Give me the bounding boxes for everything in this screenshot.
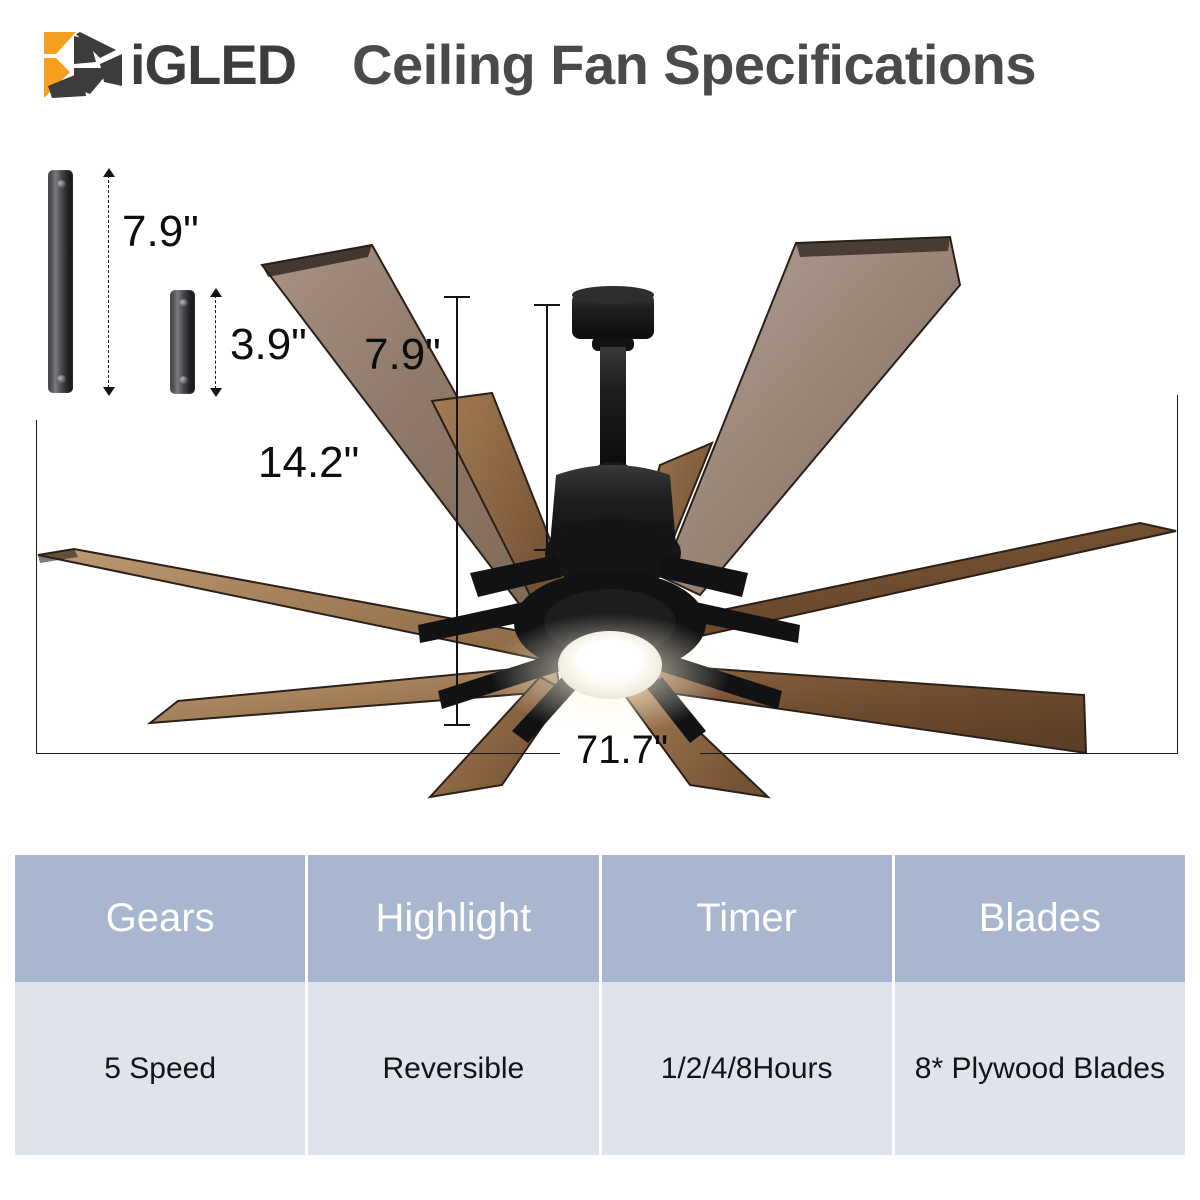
table-row: 5 Speed Reversible 1/2/4/8Hours 8* Plywo… <box>15 982 1185 1155</box>
dim-tick-bottom-body <box>444 724 470 726</box>
table-cell-highlight: Reversible <box>308 982 601 1155</box>
table-header-highlight: Highlight <box>308 855 601 982</box>
aperture-shutter-logo-icon <box>30 28 142 102</box>
dim-line-body-height <box>456 297 458 725</box>
table-header-blades: Blades <box>895 855 1185 982</box>
table-header-row: Gears Highlight Timer Blades <box>15 855 1185 982</box>
ext-line-right <box>1177 395 1178 754</box>
dim-label-drop-height: 7.9" <box>364 330 441 380</box>
ceiling-fan-spec-sheet: iGLED Ceiling Fan Specifications 7.9" 3.… <box>0 0 1200 1200</box>
table-cell-blades: 8* Plywood Blades <box>895 982 1185 1155</box>
dim-tick-bottom-drop <box>534 549 560 551</box>
dim-label-overall-width: 71.7" <box>576 728 668 773</box>
page-title: Ceiling Fan Specifications <box>352 33 1036 97</box>
page-header: iGLED Ceiling Fan Specifications <box>0 0 1200 125</box>
specifications-table: Gears Highlight Timer Blades 5 Speed Rev… <box>15 855 1185 1155</box>
dim-line-width-left <box>36 753 560 754</box>
table-cell-timer: 1/2/4/8Hours <box>602 982 895 1155</box>
table-cell-gears: 5 Speed <box>15 982 308 1155</box>
fan-blade-10 <box>662 237 960 595</box>
ceiling-canopy-assembly <box>572 286 654 465</box>
led-light <box>490 613 730 733</box>
dim-tick-top-body <box>444 296 470 298</box>
product-diagram: 7.9" 3.9" <box>0 125 1200 840</box>
table-header-gears: Gears <box>15 855 308 982</box>
ext-line-left <box>36 420 37 754</box>
dim-tick-top-drop <box>534 304 560 306</box>
dim-line-drop-height <box>546 305 548 550</box>
dim-label-body-height: 14.2" <box>258 438 359 488</box>
brand-name: iGLED <box>130 33 296 97</box>
table-header-timer: Timer <box>602 855 895 982</box>
dim-line-width-right <box>700 753 1178 754</box>
fan-blade-3 <box>38 549 552 661</box>
